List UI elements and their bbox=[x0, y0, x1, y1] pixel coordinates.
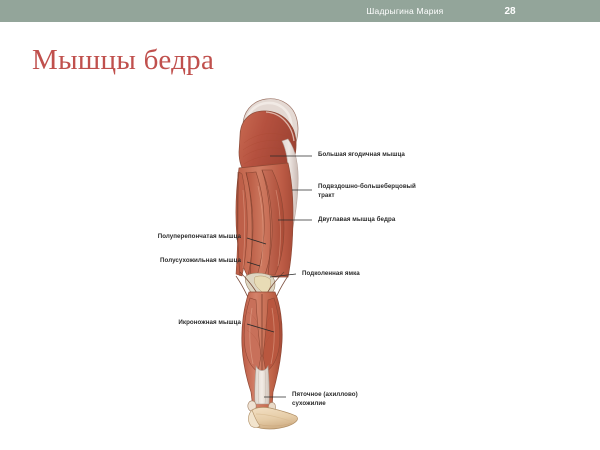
anatomy-figure: Большая ягодичная мышца Подвздошно-больш… bbox=[0, 0, 600, 450]
label-gluteus-maximus: Большая ягодичная мышца bbox=[318, 151, 405, 160]
slide-canvas: Шадрыгина Мария 28 Мышцы бедра bbox=[0, 0, 600, 450]
calf-region bbox=[242, 292, 282, 412]
posterior-leg-illustration bbox=[0, 0, 600, 450]
label-biceps-femoris: Двуглавая мышца бедра bbox=[318, 216, 395, 225]
label-semimembranosus: Полуперепончатая мышца bbox=[121, 233, 241, 242]
label-iliotibial-tract: Подвздошно-большеберцовый тракт bbox=[318, 183, 468, 201]
label-gastrocnemius: Икроножная мышца bbox=[121, 319, 241, 328]
label-popliteal-fossa: Подколенная ямка bbox=[302, 270, 360, 279]
foot bbox=[248, 407, 297, 429]
label-achilles-tendon: Пяточное (ахиллово) сухожилие bbox=[292, 391, 422, 409]
label-semitendinosus: Полусухожильная мышца bbox=[121, 257, 241, 266]
